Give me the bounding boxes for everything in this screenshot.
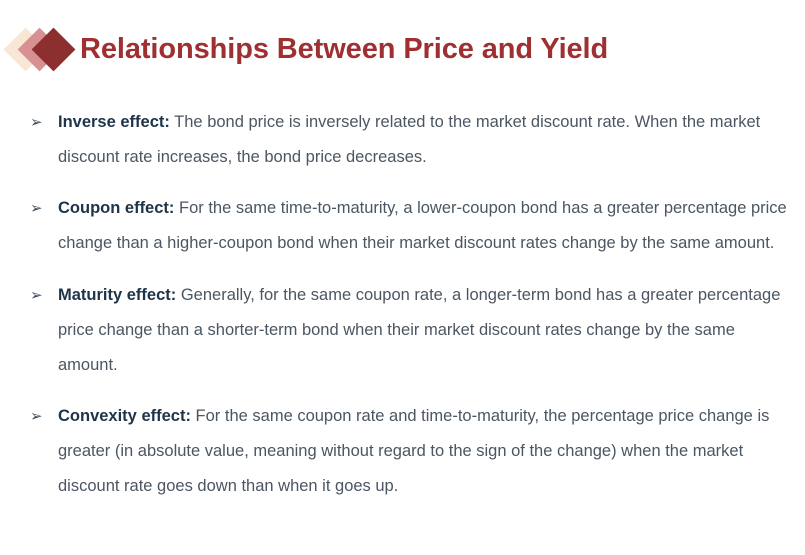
title-row: Relationships Between Price and Yield — [0, 22, 805, 78]
list-item: ➢Convexity effect: For the same coupon r… — [28, 399, 788, 504]
arrow-bullet-icon: ➢ — [30, 105, 43, 140]
list-item: ➢Inverse effect: The bond price is inver… — [28, 105, 788, 175]
three-diamonds-icon — [8, 27, 76, 73]
slide-canvas: Relationships Between Price and Yield ➢I… — [0, 0, 805, 555]
list-item: ➢Coupon effect: For the same time-to-mat… — [28, 191, 788, 261]
arrow-bullet-icon: ➢ — [30, 191, 43, 226]
list-item-lead-in: Convexity effect: — [58, 407, 191, 425]
arrow-bullet-icon: ➢ — [30, 278, 43, 313]
page-title: Relationships Between Price and Yield — [80, 34, 608, 66]
bullet-list: ➢Inverse effect: The bond price is inver… — [28, 88, 788, 504]
list-item-lead-in: Maturity effect: — [58, 286, 176, 304]
arrow-bullet-icon: ➢ — [30, 399, 43, 434]
list-item-lead-in: Coupon effect: — [58, 199, 174, 217]
list-item: ➢Maturity effect: Generally, for the sam… — [28, 278, 788, 383]
list-item-lead-in: Inverse effect: — [58, 113, 170, 131]
